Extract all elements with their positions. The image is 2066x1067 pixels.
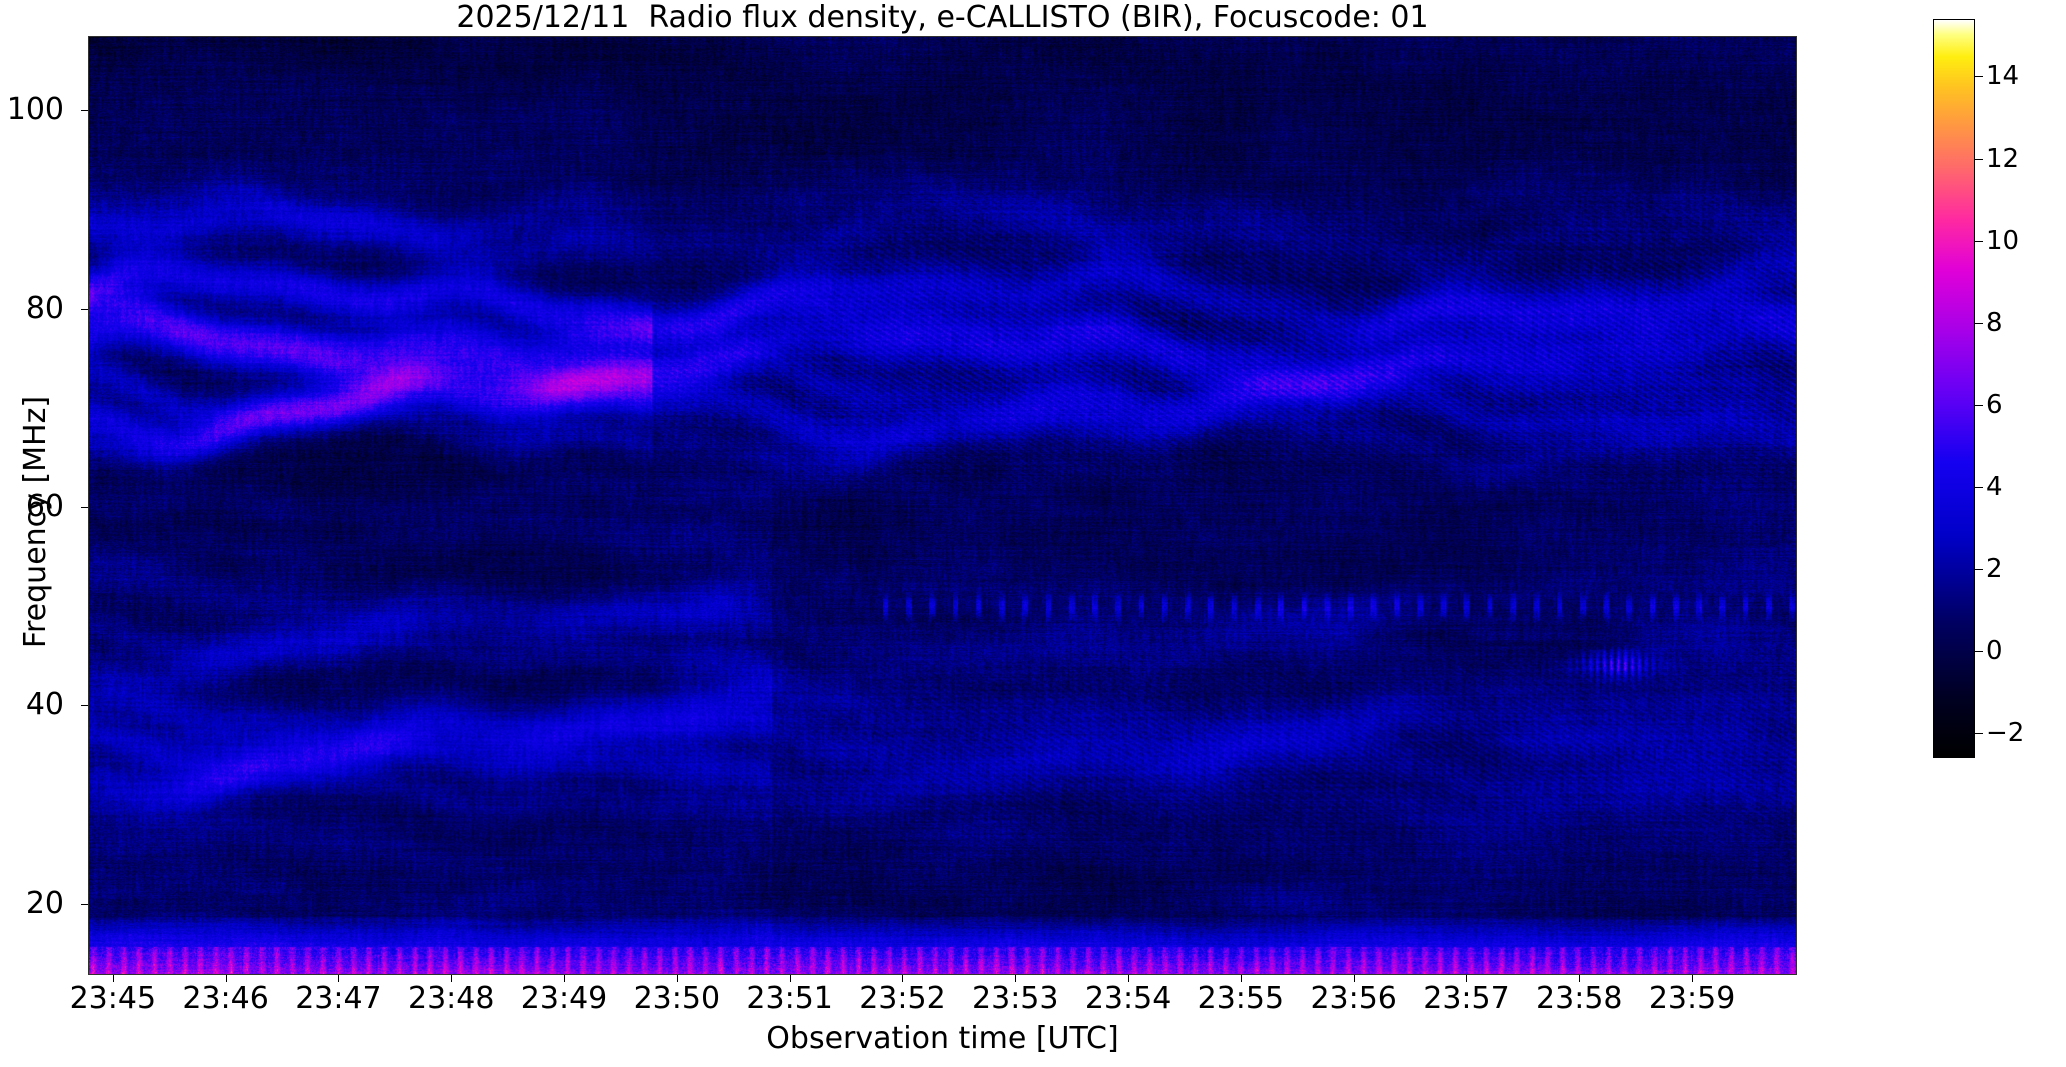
x-tick-label-23:45: 23:45 bbox=[70, 982, 156, 1016]
x-tick-label-23:59: 23:59 bbox=[1649, 982, 1735, 1016]
colorbar-tick-2 bbox=[1975, 569, 1983, 570]
x-tick-label-23:55: 23:55 bbox=[1198, 982, 1284, 1016]
colorbar-tick-0 bbox=[1975, 651, 1983, 652]
colorbar-tick-12 bbox=[1975, 159, 1983, 160]
colorbar bbox=[1933, 19, 1975, 758]
colorbar-gradient bbox=[1934, 20, 1974, 757]
y-tick-20 bbox=[81, 904, 88, 905]
x-tick-label-23:49: 23:49 bbox=[521, 982, 607, 1016]
x-tick-label-23:46: 23:46 bbox=[182, 982, 268, 1016]
x-tick-label-23:53: 23:53 bbox=[972, 982, 1058, 1016]
figure-canvas: 2025/12/11 Radio flux density, e-CALLIST… bbox=[0, 0, 2066, 1067]
colorbar-label-8: 8 bbox=[1986, 310, 2003, 336]
colorbar-label-2: 2 bbox=[1986, 556, 2003, 582]
y-axis-title-wrap: Frequency [MHz] bbox=[6, 36, 46, 975]
y-tick-100 bbox=[81, 110, 88, 111]
x-tick-label-23:57: 23:57 bbox=[1423, 982, 1509, 1016]
colorbar-tick-14 bbox=[1975, 76, 1983, 77]
colorbar-label-0: 0 bbox=[1986, 638, 2003, 664]
colorbar-label-4: 4 bbox=[1986, 474, 2003, 500]
colorbar-tick-6 bbox=[1975, 405, 1983, 406]
x-tick-label-23:58: 23:58 bbox=[1536, 982, 1622, 1016]
y-tick-40 bbox=[81, 705, 88, 706]
colorbar-label-6: 6 bbox=[1986, 392, 2003, 418]
spectrogram-axes bbox=[88, 36, 1797, 975]
colorbar-title-wrap: dB above background bbox=[2024, 19, 2064, 758]
x-tick-label-23:56: 23:56 bbox=[1310, 982, 1396, 1016]
colorbar-tick-4 bbox=[1975, 487, 1983, 488]
colorbar-label--2: −2 bbox=[1986, 720, 2024, 746]
x-tick-label-23:54: 23:54 bbox=[1085, 982, 1171, 1016]
colorbar-label-10: 10 bbox=[1986, 228, 2019, 254]
x-tick-labels: 23:4523:4623:4723:4823:4923:5023:5123:52… bbox=[88, 982, 1797, 1026]
chart-title: 2025/12/11 Radio flux density, e-CALLIST… bbox=[88, 2, 1797, 34]
colorbar-label-14: 14 bbox=[1986, 63, 2019, 89]
x-tick-label-23:50: 23:50 bbox=[634, 982, 720, 1016]
colorbar-tick-10 bbox=[1975, 241, 1983, 242]
x-tick-label-23:52: 23:52 bbox=[859, 982, 945, 1016]
x-tick-label-23:51: 23:51 bbox=[746, 982, 832, 1016]
x-axis-title: Observation time [UTC] bbox=[88, 1022, 1797, 1056]
colorbar-tick--2 bbox=[1975, 733, 1983, 734]
x-tick-label-23:47: 23:47 bbox=[295, 982, 381, 1016]
y-axis-title: Frequency [MHz] bbox=[20, 42, 52, 1002]
colorbar-label-12: 12 bbox=[1986, 146, 2019, 172]
y-tick-60 bbox=[81, 507, 88, 508]
colorbar-tick-8 bbox=[1975, 323, 1983, 324]
spectrogram-image bbox=[89, 37, 1796, 974]
y-tick-80 bbox=[81, 309, 88, 310]
spectrogram-pixels bbox=[89, 37, 1796, 974]
x-tick-label-23:48: 23:48 bbox=[408, 982, 494, 1016]
